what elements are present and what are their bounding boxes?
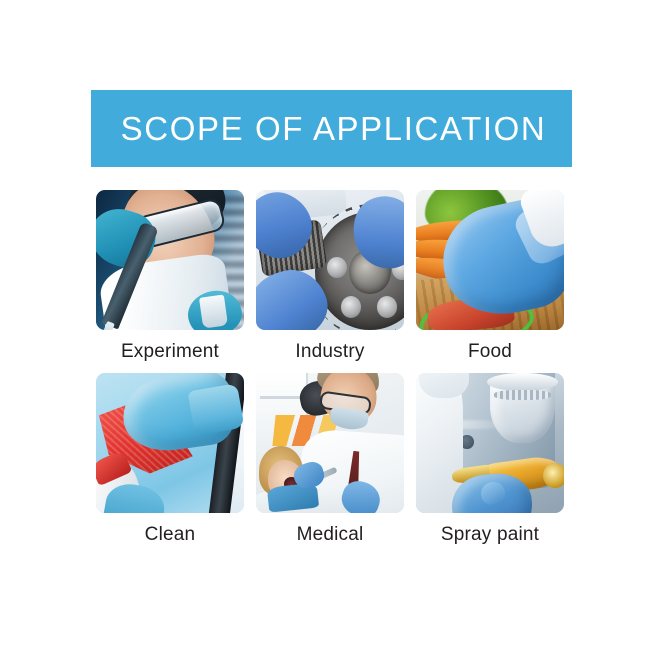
application-grid: Experiment Industry [96, 190, 564, 548]
application-cell-spray-paint[interactable]: Spray paint [416, 373, 564, 548]
page-title: SCOPE OF APPLICATION [117, 112, 547, 145]
application-cell-food[interactable]: Food [416, 190, 564, 365]
application-cell-clean[interactable]: Clean [96, 373, 244, 548]
gloved-hands-holding-gears-icon [256, 190, 404, 330]
title-banner: SCOPE OF APPLICATION [91, 90, 572, 167]
application-thumbnail[interactable] [256, 373, 404, 513]
application-label: Medical [256, 522, 404, 548]
dentist-treating-child-icon [256, 373, 404, 513]
application-thumbnail[interactable] [256, 190, 404, 330]
application-cell-experiment[interactable]: Experiment [96, 190, 244, 365]
application-label: Clean [96, 522, 244, 548]
application-label: Spray paint [416, 522, 564, 548]
application-label: Experiment [96, 339, 244, 365]
application-thumbnail[interactable] [416, 373, 564, 513]
scope-of-application-page: SCOPE OF APPLICATION Experiment [0, 0, 660, 660]
gloved-hand-cutting-vegetables-icon [416, 190, 564, 330]
application-thumbnail[interactable] [96, 190, 244, 330]
gloved-hand-wiping-window-icon [96, 373, 244, 513]
application-label: Food [416, 339, 564, 365]
lab-technician-pipetting-icon [96, 190, 244, 330]
application-thumbnail[interactable] [96, 373, 244, 513]
spray-gun-in-gloved-hand-icon [416, 373, 564, 513]
application-thumbnail[interactable] [416, 190, 564, 330]
application-cell-industry[interactable]: Industry [256, 190, 404, 365]
application-cell-medical[interactable]: Medical [256, 373, 404, 548]
application-label: Industry [256, 339, 404, 365]
